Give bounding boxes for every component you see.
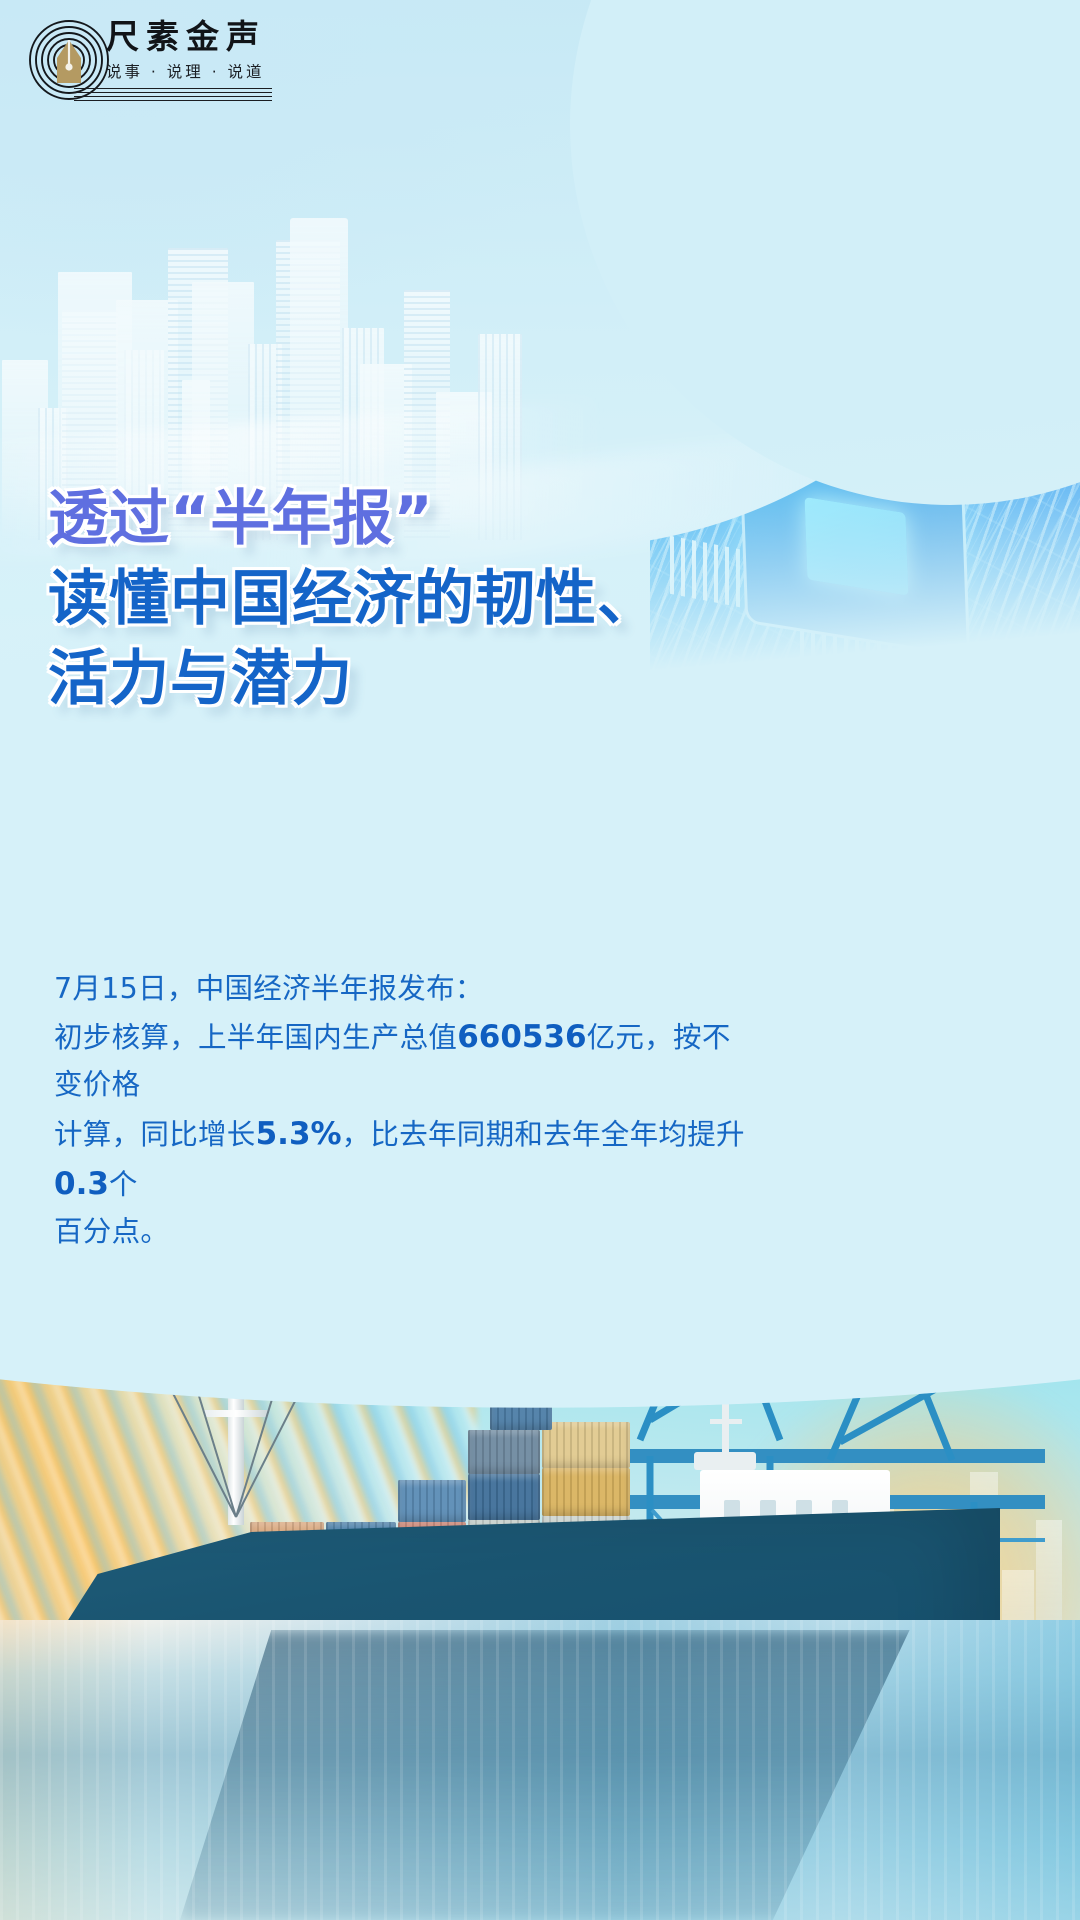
ship-superstructure-band (640, 1676, 1020, 1796)
logo-title: 尺素金声 (106, 18, 266, 56)
headline-line-2: 读懂中国经济的韧性、 (48, 560, 768, 640)
ship-hull (40, 1508, 1000, 1808)
body-line-3: 计算，同比增长5.3%，比去年同期和去年全年均提升0.3个 (54, 1109, 754, 1209)
ship-boot-topping (70, 1770, 1020, 1848)
headline-line-3: 活力与潜力 (48, 640, 768, 720)
brand-logo[interactable]: 尺素金声 说事 · 说理 · 说道 (22, 14, 272, 104)
body-line-4: 百分点。 (54, 1209, 754, 1255)
body-paragraph: 7月15日，中国经济半年报发布： 初步核算，上半年国内生产总值660536亿元，… (54, 966, 754, 1255)
photo-far-skyline (830, 1440, 1070, 1730)
body-line-2: 初步核算，上半年国内生产总值660536亿元，按不变价格 (54, 1012, 754, 1108)
headline-line-1: 透过“半年报” (48, 480, 768, 560)
delta-value: 0.3 (54, 1166, 109, 1202)
logo-subtitle: 说事 · 说理 · 说道 (106, 60, 266, 82)
harbor-water (0, 1620, 1080, 1920)
poster-root: 尺素金声 说事 · 说理 · 说道 透过“半年报” 读懂中国经济的韧性、 活力与… (0, 0, 1080, 1920)
gantry-cranes (500, 1210, 1060, 1730)
ship-waterline-shadow (60, 1820, 1040, 1860)
blank-tile-3 (776, 286, 930, 429)
cpu-chip-icon (739, 437, 970, 659)
shopping-cart-tile (564, 60, 769, 234)
package-inspection-tile (734, 0, 910, 152)
water-reflection (180, 1630, 940, 1920)
blank-tile-2 (570, 251, 742, 406)
headline-block: 透过“半年报” 读懂中国经济的韧性、 活力与潜力 (48, 480, 768, 719)
deck-containers (250, 1340, 1010, 1620)
growth-rate-value: 5.3% (256, 1116, 342, 1152)
ship-foremast (195, 1225, 275, 1525)
gdp-value: 660536 (457, 1019, 586, 1055)
water-streaks (0, 1620, 1080, 1920)
logo-underline-rules (74, 88, 272, 104)
content-panel-curve (0, 0, 1080, 1580)
photo-speed-streaks (0, 1252, 492, 1748)
ship-bridge (700, 1470, 890, 1620)
cargo-ship-tile (700, 179, 888, 339)
decorative-light-circle (570, 0, 1080, 505)
photo-right-glow (720, 1370, 1080, 1790)
blank-tile (634, 169, 825, 339)
ship-bridge-mast (690, 1360, 760, 1470)
cargo-ship (0, 1220, 1080, 1920)
body-line-1: 7月15日，中国经济半年报发布： (54, 966, 754, 1012)
quay-containers (680, 1530, 1060, 1750)
photo-sun-glow (0, 1208, 481, 1703)
